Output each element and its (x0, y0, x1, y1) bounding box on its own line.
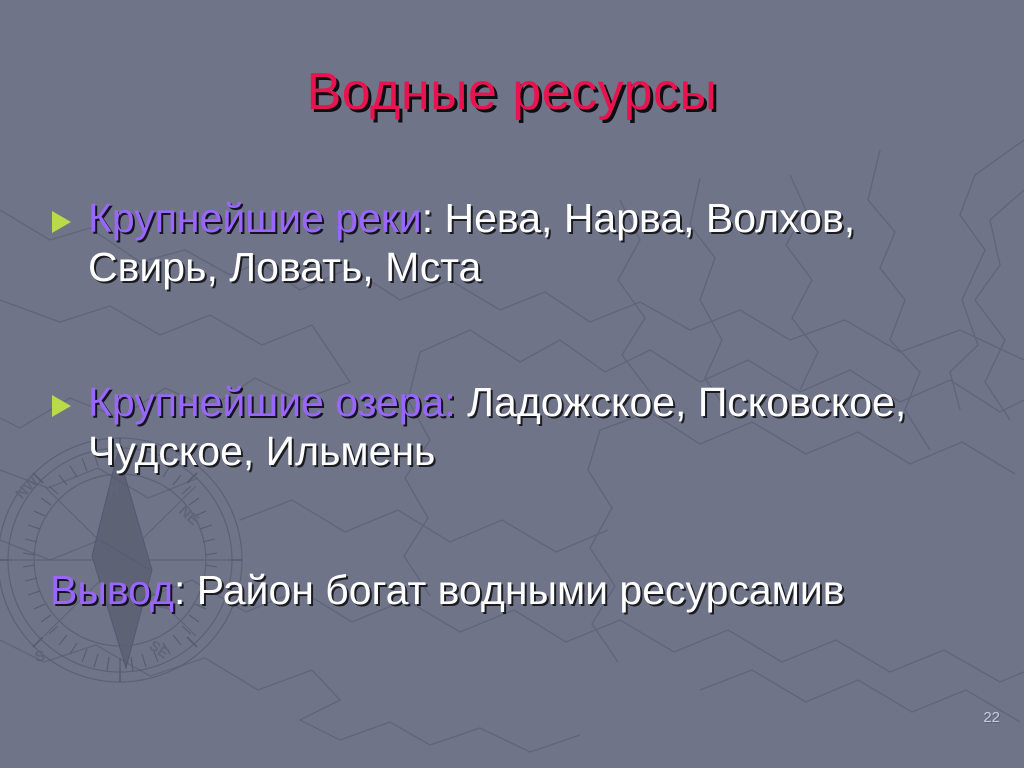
bullet-item-lakes: Крупнейшие озера: Ладожское, Псковское, … (50, 378, 980, 476)
bullet-lead-lakes: Крупнейшие озера: (88, 379, 456, 425)
triangle-bullet-icon (52, 211, 71, 233)
conclusion-line: Вывод: Район богат водными ресурсамив (50, 566, 980, 615)
compass-label-n: N (108, 482, 120, 500)
compass-label-s: S (33, 647, 46, 666)
compass-label-nw: NW (12, 472, 42, 503)
conclusion-rest: : Район богат водными ресурсамив (174, 567, 845, 613)
conclusion-lead: Вывод (50, 567, 174, 613)
bullet-lead-rivers: Крупнейшие реки (88, 195, 422, 241)
page-number: 22 (983, 709, 1000, 726)
compass-label-se: SE (146, 637, 172, 662)
page-title: Водные ресурсы (0, 62, 1024, 122)
slide-canvas: N NW NE E SE S Водные ресурсы Крупнейшие… (0, 0, 1024, 768)
triangle-bullet-icon (52, 395, 71, 417)
bullet-item-rivers: Крупнейшие реки: Нева, Нарва, Волхов, Св… (50, 194, 980, 292)
compass-label-ne: NE (175, 502, 202, 529)
